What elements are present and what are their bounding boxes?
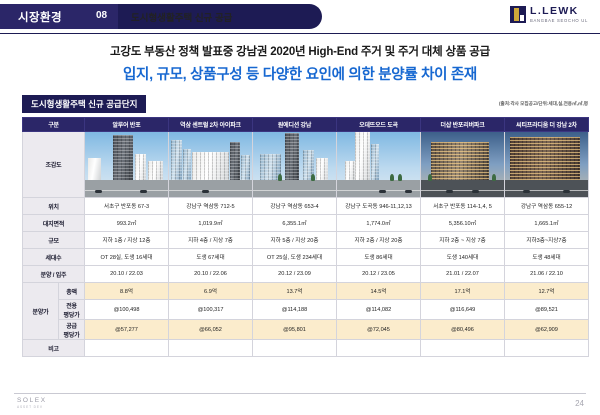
price-total-5: 17.1억 (421, 283, 505, 300)
location-6: 강남구 역삼동 655-12 (505, 198, 589, 215)
row-label-scale: 규모 (23, 232, 85, 249)
brand-logo-text: L.LEWK BANGBAE SEOCHO UL (530, 6, 588, 23)
site-area-5: 5,356.10㎡ (421, 215, 505, 232)
title-line-1: 고강도 부동산 정책 발표중 강남권 2020년 High-End 주거 및 주… (0, 43, 600, 59)
slide-root: 시장환경 08 도시형생활주택 신규 공급 L.LEWK BANGBAE SEO… (0, 0, 600, 415)
sale-move-3: 20.12 / 23.09 (253, 266, 337, 283)
projects-table: 구분 알루어 반포 역삼 센트럴 2차 아이파크 원에디션 강남 오데뜨오드 도… (22, 117, 589, 357)
table-row-memo: 비고 (23, 340, 589, 357)
section-header-row: 도시형생활주택 신규 공급단지 (출처:각사 모집공고/단위:세대,실,전용㎡,… (0, 95, 600, 112)
slide-header: 시장환경 08 도시형생활주택 신규 공급 L.LEWK BANGBAE SEO… (0, 0, 600, 34)
price-total-2: 6.9억 (169, 283, 253, 300)
render-cell-4 (337, 132, 421, 198)
title-line-2: 입지, 규모, 상품구성 등 다양한 요인에 의한 분양률 차이 존재 (0, 63, 600, 84)
sale-move-5: 21.01 / 22.07 (421, 266, 505, 283)
units-6: 도생 48세대 (505, 249, 589, 266)
sale-move-4: 20.12 / 23.05 (337, 266, 421, 283)
location-2: 강남구 역삼동 712-5 (169, 198, 253, 215)
price-total-4: 14.5억 (337, 283, 421, 300)
col-header-4: 오데뜨오드 도곡 (337, 118, 421, 132)
table-row-units: 세대수 OT 28실, 도생 16세대 도생 67세대 OT 25실, 도생 2… (23, 249, 589, 266)
render-cell-1 (85, 132, 169, 198)
page-number: 24 (575, 399, 584, 408)
table-row-render: 조감도 (23, 132, 589, 198)
table-row-location: 위치 서초구 반포동 67-3 강남구 역삼동 712-5 강남구 역삼동 65… (23, 198, 589, 215)
price-supply-1: @57,277 (85, 320, 169, 340)
table-row-scale: 규모 지하 1층 / 지상 12층 지하 4층 / 지상 7층 지하 5층 / … (23, 232, 589, 249)
sale-move-1: 20.10 / 22.03 (85, 266, 169, 283)
header-divider (0, 33, 600, 34)
scale-4: 지하 2층 / 지상 20층 (337, 232, 421, 249)
section-label: 도시형생활주택 신규 공급단지 (22, 95, 146, 113)
site-area-4: 1,774.0㎡ (337, 215, 421, 232)
col-header-5: 더샵 반포리버파크 (421, 118, 505, 132)
location-1: 서초구 반포동 67-3 (85, 198, 169, 215)
price-total-1: 8.8억 (85, 283, 169, 300)
header-section-number: 08 (96, 10, 107, 21)
title-block: 고강도 부동산 정책 발표중 강남권 2020년 High-End 주거 및 주… (0, 43, 600, 84)
slide-footer: SOLEX ASSET DEV 24 (0, 393, 600, 415)
units-3: OT 25실, 도생 234세대 (253, 249, 337, 266)
col-header-2: 역삼 센트럴 2차 아이파크 (169, 118, 253, 132)
table-row-price-total: 분양가 총액 8.8억 6.9억 13.7억 14.5억 17.1억 12.7억 (23, 283, 589, 300)
sale-move-6: 21.06 / 22.10 (505, 266, 589, 283)
site-area-6: 1,665.1㎡ (505, 215, 589, 232)
price-exclusive-6: @89,521 (505, 300, 589, 320)
row-label-site-area: 대지면적 (23, 215, 85, 232)
header-category: 시장환경 (18, 9, 62, 25)
table-row-price-exclusive: 전용 평당가 @100,498 @100,317 @114,188 @114,0… (23, 300, 589, 320)
scale-2: 지하 4층 / 지상 7층 (169, 232, 253, 249)
brand-logo-subtitle: BANGBAE SEOCHO UL (530, 19, 588, 23)
price-total-6: 12.7억 (505, 283, 589, 300)
table-row-site-area: 대지면적 993.2㎡ 1,019.9㎡ 6,355.1㎡ 1,774.0㎡ 5… (23, 215, 589, 232)
col-header-6: 씨티프라디움 더 강남 2차 (505, 118, 589, 132)
memo-1 (85, 340, 169, 357)
price-supply-4: @72,045 (337, 320, 421, 340)
building-render-5 (421, 132, 504, 197)
site-area-2: 1,019.9㎡ (169, 215, 253, 232)
row-label-memo: 비고 (23, 340, 85, 357)
site-area-1: 993.2㎡ (85, 215, 169, 232)
price-exclusive-1: @100,498 (85, 300, 169, 320)
source-note: (출처:각사 모집공고/단위:세대,실,전용㎡,㎡,평 (499, 101, 588, 107)
row-label-price-total: 총액 (59, 283, 85, 300)
price-supply-2: @66,052 (169, 320, 253, 340)
site-area-3: 6,355.1㎡ (253, 215, 337, 232)
price-supply-6: @62,909 (505, 320, 589, 340)
building-render-2 (169, 132, 252, 197)
table-row-sale-move: 분양 / 입주 20.10 / 22.03 20.10 / 22.06 20.1… (23, 266, 589, 283)
building-render-3 (253, 132, 336, 197)
units-1: OT 28실, 도생 16세대 (85, 249, 169, 266)
price-exclusive-4: @114,082 (337, 300, 421, 320)
location-4: 강남구 도곡동 946-11,12,13 (337, 198, 421, 215)
sale-move-2: 20.10 / 22.06 (169, 266, 253, 283)
price-supply-5: @80,496 (421, 320, 505, 340)
units-4: 도생 86세대 (337, 249, 421, 266)
row-label-location: 위치 (23, 198, 85, 215)
col-header-3: 원에디션 강남 (253, 118, 337, 132)
col-header-0: 구분 (23, 118, 85, 132)
row-label-sale-move: 분양 / 입주 (23, 266, 85, 283)
memo-5 (421, 340, 505, 357)
units-5: 도생 140세대 (421, 249, 505, 266)
building-render-4 (337, 132, 420, 197)
row-label-price-group: 분양가 (23, 283, 59, 340)
scale-3: 지하 5층 / 지상 20층 (253, 232, 337, 249)
table-header-row: 구분 알루어 반포 역삼 센트럴 2차 아이파크 원에디션 강남 오데뜨오드 도… (23, 118, 589, 132)
price-exclusive-3: @114,188 (253, 300, 337, 320)
price-exclusive-2: @100,317 (169, 300, 253, 320)
row-label-render: 조감도 (23, 132, 85, 198)
memo-2 (169, 340, 253, 357)
row-label-price-exclusive: 전용 평당가 (59, 300, 85, 320)
building-render-1 (85, 132, 168, 197)
price-total-3: 13.7억 (253, 283, 337, 300)
scale-1: 지하 1층 / 지상 12층 (85, 232, 169, 249)
brand-logo-name: L.LEWK (530, 6, 588, 17)
memo-3 (253, 340, 337, 357)
memo-6 (505, 340, 589, 357)
footer-logo: SOLEX ASSET DEV (17, 398, 47, 409)
scale-5: 지하 2층 ~ 지상 7층 (421, 232, 505, 249)
render-cell-5 (421, 132, 505, 198)
render-cell-2 (169, 132, 253, 198)
render-cell-6 (505, 132, 589, 198)
row-label-units: 세대수 (23, 249, 85, 266)
render-cell-3 (253, 132, 337, 198)
brand-logo-icon (510, 6, 526, 23)
table-row-price-supply: 공급 평당가 @57,277 @66,052 @95,801 @72,045 @… (23, 320, 589, 340)
footer-logo-name: SOLEX (17, 398, 47, 405)
footer-divider (14, 393, 586, 394)
row-label-price-supply: 공급 평당가 (59, 320, 85, 340)
location-3: 강남구 역삼동 653-4 (253, 198, 337, 215)
location-5: 서초구 반포동 114-1,4, 5 (421, 198, 505, 215)
price-exclusive-5: @116,649 (421, 300, 505, 320)
units-2: 도생 67세대 (169, 249, 253, 266)
brand-logo: L.LEWK BANGBAE SEOCHO UL (510, 6, 588, 23)
header-subject-title: 도시형생활주택 신규 공급 (131, 10, 232, 24)
price-supply-3: @95,801 (253, 320, 337, 340)
footer-logo-subtitle: ASSET DEV (17, 406, 47, 409)
memo-4 (337, 340, 421, 357)
scale-6: 지하3층~지상7층 (505, 232, 589, 249)
building-render-6 (505, 132, 588, 197)
projects-table-wrap: 구분 알루어 반포 역삼 센트럴 2차 아이파크 원에디션 강남 오데뜨오드 도… (22, 117, 588, 357)
col-header-1: 알루어 반포 (85, 118, 169, 132)
